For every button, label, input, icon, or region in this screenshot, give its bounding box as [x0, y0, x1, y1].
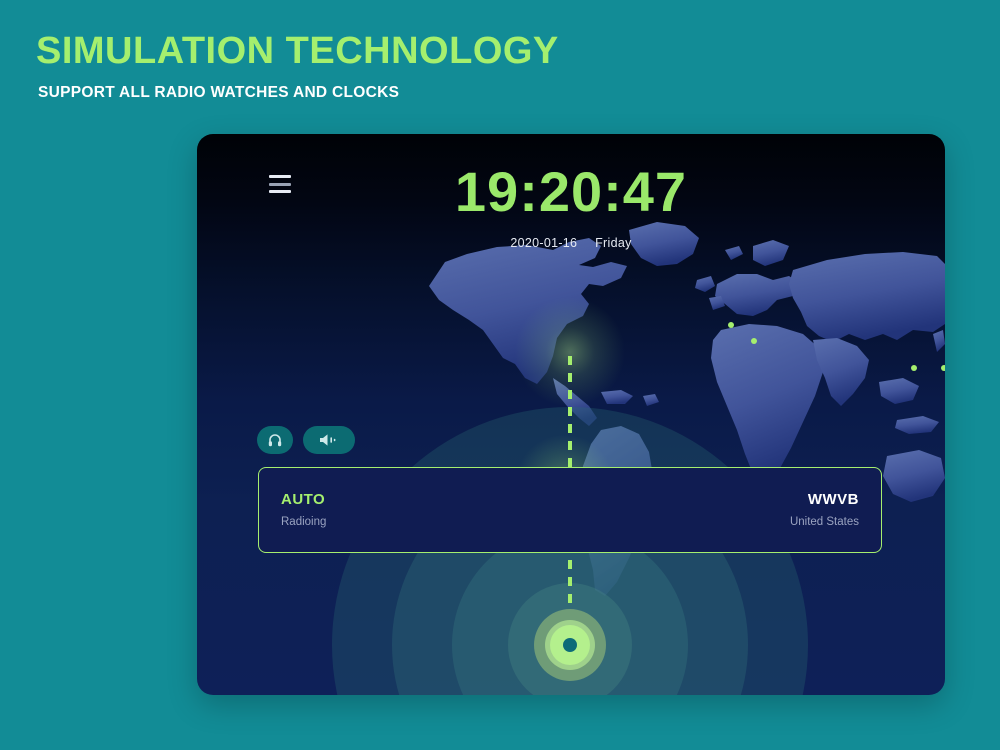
clock-display: 19:20:47 2020-01-16 Friday: [197, 164, 945, 250]
headphone-icon: [267, 432, 283, 448]
panel-station-column: WWVB United States: [790, 492, 859, 528]
speaker-volume-icon: [317, 432, 341, 448]
page-header: SIMULATION TECHNOLOGY SUPPORT ALL RADIO …: [36, 30, 936, 102]
panel-station-country: United States: [790, 516, 859, 528]
clock-date: 2020-01-16: [510, 236, 577, 250]
receiver-core-dot: [563, 638, 577, 652]
station-dot-uk[interactable]: [728, 322, 734, 328]
device-screen: 19:20:47 2020-01-16 Friday WWVB United S…: [197, 134, 945, 695]
signal-info-panel[interactable]: AUTO Radioing WWVB United States: [258, 467, 882, 553]
station-dot-china[interactable]: [911, 365, 917, 371]
control-button-group: [257, 426, 355, 454]
clock-weekday: Friday: [595, 236, 632, 250]
device-frame: 19:20:47 2020-01-16 Friday WWVB United S…: [197, 134, 945, 695]
clock-time: 19:20:47: [197, 164, 945, 220]
station-dot-japan[interactable]: [941, 365, 945, 371]
panel-mode-title: AUTO: [281, 492, 326, 509]
volume-button[interactable]: [303, 426, 355, 454]
panel-mode-column: AUTO Radioing: [281, 492, 326, 528]
headphone-button[interactable]: [257, 426, 293, 454]
panel-mode-status: Radioing: [281, 516, 326, 528]
station-dot-germany[interactable]: [751, 338, 757, 344]
receiver-target[interactable]: [534, 609, 606, 681]
panel-station-title: WWVB: [790, 492, 859, 509]
page-subtitle: SUPPORT ALL RADIO WATCHES AND CLOCKS: [38, 84, 936, 102]
clock-date-row: 2020-01-16 Friday: [197, 236, 945, 250]
page-title: SIMULATION TECHNOLOGY: [36, 30, 936, 74]
